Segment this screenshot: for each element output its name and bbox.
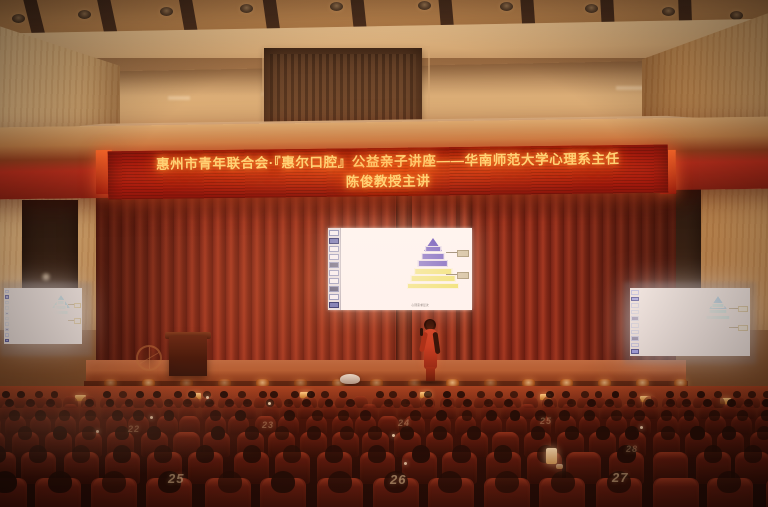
slide-thumbnail[interactable] xyxy=(329,278,339,284)
microphone-icon xyxy=(420,328,423,336)
audience-head xyxy=(210,410,221,420)
light-speck xyxy=(96,430,99,433)
pyramid-label-lower xyxy=(457,272,469,279)
seat-row-number: 27 xyxy=(612,470,628,485)
ceiling-downlight xyxy=(662,7,675,16)
audience-head xyxy=(133,410,144,420)
audience-head xyxy=(587,399,596,407)
audience-head xyxy=(5,399,14,407)
pyramid-tier xyxy=(55,305,67,310)
slide-canvas: 心理需求层次 xyxy=(328,228,472,310)
audience-head xyxy=(2,391,10,398)
audience-head xyxy=(243,445,261,463)
audience-head xyxy=(661,426,675,440)
wheel-prop xyxy=(136,345,162,371)
pyramid-label-upper xyxy=(738,306,748,312)
seat-highlight xyxy=(494,432,517,438)
presenter xyxy=(419,320,441,382)
audience-head xyxy=(433,426,447,440)
audience-head xyxy=(259,391,267,398)
slide-thumbnail[interactable] xyxy=(329,254,339,260)
audience-head xyxy=(526,391,534,398)
audience-head xyxy=(737,410,748,420)
pyramid-tier xyxy=(705,315,730,321)
audience-head xyxy=(46,399,55,407)
audience-head xyxy=(113,445,131,463)
audience-head xyxy=(9,410,20,420)
audience-head xyxy=(307,391,315,398)
audience-head xyxy=(494,445,512,463)
audience-head xyxy=(106,399,115,407)
audience-head xyxy=(85,399,94,407)
audience-head xyxy=(704,445,722,463)
slide-thumbnail-rail xyxy=(630,288,641,356)
audience-head xyxy=(565,426,579,440)
lectern xyxy=(169,336,207,376)
pyramid-tier xyxy=(47,325,75,330)
audience-head xyxy=(562,391,570,398)
phone-screen xyxy=(556,464,563,469)
audience-head xyxy=(164,410,175,420)
slide-thumbnail[interactable] xyxy=(5,290,9,293)
audience-head xyxy=(477,391,485,398)
audience-head xyxy=(645,399,654,407)
audience-head xyxy=(703,399,712,407)
audience-head xyxy=(321,391,329,398)
audience-head xyxy=(238,391,246,398)
slide-thumbnail[interactable] xyxy=(329,238,339,244)
audience-head xyxy=(153,391,161,398)
auditorium-photo: 惠州市青年联合会·『惠尔口腔』公益亲子讲座——华南师范大学心理系主任 陈俊教授主… xyxy=(0,0,768,507)
slide-thumbnail[interactable] xyxy=(329,302,339,308)
audience-head xyxy=(325,399,334,407)
audience-head xyxy=(443,391,451,398)
audience-head xyxy=(283,445,301,463)
audience-head xyxy=(438,471,462,493)
audience-head xyxy=(188,391,196,398)
audience-head xyxy=(17,391,25,398)
audience-head xyxy=(196,445,214,463)
slide-thumbnail[interactable] xyxy=(329,246,339,252)
audience-head xyxy=(245,426,259,440)
pyramid-label-upper xyxy=(74,303,81,309)
ceiling-downlight xyxy=(12,14,25,23)
slide-thumbnail[interactable] xyxy=(631,297,639,302)
audience-head xyxy=(584,410,595,420)
slide-thumbnail[interactable] xyxy=(5,312,9,315)
audience-head xyxy=(714,391,722,398)
audience-head xyxy=(727,399,736,407)
light-speck xyxy=(404,462,407,465)
slide-thumbnail[interactable] xyxy=(5,322,9,325)
left-led-display xyxy=(4,288,82,344)
pyramid-tier xyxy=(418,260,448,267)
presenter-legs xyxy=(426,367,435,381)
slide-thumbnail[interactable] xyxy=(5,306,9,309)
audience-head xyxy=(275,426,289,440)
audience-head xyxy=(102,471,126,493)
slide-thumbnail[interactable] xyxy=(631,323,639,328)
audience-head xyxy=(748,391,756,398)
slide-canvas xyxy=(4,288,82,344)
audience-head xyxy=(510,391,518,398)
audience-head xyxy=(486,410,497,420)
audience-head xyxy=(389,391,397,398)
audience-head xyxy=(436,410,447,420)
seat-row-number: 28 xyxy=(626,444,638,454)
audience-head xyxy=(709,410,720,420)
audience-head xyxy=(368,426,382,440)
ceiling-downlight xyxy=(240,4,253,13)
slide-thumbnail[interactable] xyxy=(329,286,339,292)
pyramid-tier xyxy=(57,300,66,305)
seat-row-number: 24 xyxy=(398,418,410,428)
audience-head xyxy=(145,399,154,407)
light-speck xyxy=(268,402,271,405)
wall-light-notch xyxy=(616,86,646,90)
audience-head xyxy=(154,445,172,463)
slide-thumbnail[interactable] xyxy=(5,333,9,336)
audience-head xyxy=(733,391,741,398)
audience-head xyxy=(164,399,173,407)
audience-head xyxy=(18,426,32,440)
audience-head xyxy=(307,426,321,440)
audience-head xyxy=(684,410,695,420)
banner-line-2: 陈俊教授主讲 xyxy=(346,171,431,192)
audience-head xyxy=(205,399,214,407)
main-projection-screen: 心理需求层次 xyxy=(328,228,472,310)
slide-thumbnail[interactable] xyxy=(631,290,639,295)
audience-head xyxy=(51,391,59,398)
audience-head xyxy=(235,410,246,420)
audience-head xyxy=(29,445,47,463)
light-speck xyxy=(392,434,395,437)
presenter-head xyxy=(426,320,434,329)
audience-head xyxy=(484,399,493,407)
pyramid-tier xyxy=(425,246,441,253)
audience-head xyxy=(680,391,688,398)
audience-head xyxy=(328,471,352,493)
seat-highlight xyxy=(521,404,534,407)
light-speck xyxy=(206,396,209,399)
slide-thumbnail-rail xyxy=(4,288,11,344)
audience-head xyxy=(136,391,144,398)
audience-head xyxy=(72,445,90,463)
audience-head xyxy=(291,391,299,398)
audience-head xyxy=(376,391,384,398)
pyramid-tier xyxy=(411,275,456,282)
audience-head xyxy=(271,471,295,493)
audience-head xyxy=(339,391,347,398)
seat-highlight xyxy=(65,396,76,399)
audience-head xyxy=(625,426,639,440)
audience-head xyxy=(504,399,513,407)
seat-highlight xyxy=(380,416,397,420)
seat-highlight xyxy=(64,404,77,407)
audience-head xyxy=(462,410,473,420)
slide-thumbnail[interactable] xyxy=(5,328,9,331)
slide-thumbnail[interactable] xyxy=(5,301,9,304)
audience-head xyxy=(661,410,672,420)
seat-highlight xyxy=(655,478,697,487)
audience-head xyxy=(340,426,354,440)
audience-head xyxy=(682,399,691,407)
audience-head xyxy=(147,426,161,440)
seat-highlight xyxy=(355,396,366,399)
audience-head xyxy=(174,391,182,398)
audience-head xyxy=(368,445,386,463)
ceiling-downlight xyxy=(330,2,343,11)
pyramid-diagram xyxy=(45,295,78,335)
audience-head xyxy=(103,391,111,398)
audience-head xyxy=(744,445,762,463)
audience-head xyxy=(666,399,675,407)
audience-head xyxy=(270,391,278,398)
seat-row-number: 25 xyxy=(540,416,552,426)
audience-head xyxy=(634,410,645,420)
audience-head xyxy=(82,426,96,440)
seat-row-number: 22 xyxy=(128,424,140,434)
audience-head xyxy=(581,391,589,398)
audience-head xyxy=(26,399,35,407)
audience-head xyxy=(53,426,67,440)
pyramid-label-lower xyxy=(74,318,81,324)
audience-head xyxy=(457,391,465,398)
audience-head xyxy=(409,391,417,398)
slide-thumbnail[interactable] xyxy=(5,295,9,298)
audience-head xyxy=(220,391,228,398)
audience-head xyxy=(225,399,234,407)
audience-head xyxy=(467,426,481,440)
audience-head xyxy=(424,391,432,398)
stage-floor-prop xyxy=(340,374,360,384)
wall-light-notch xyxy=(168,96,190,100)
alcove-reflection xyxy=(40,272,52,282)
phone-screen xyxy=(546,448,557,464)
audience-head xyxy=(183,399,192,407)
audience-head xyxy=(401,399,410,407)
audience-head xyxy=(761,410,768,420)
audience-head xyxy=(495,391,503,398)
audience-head xyxy=(627,399,636,407)
audience-head xyxy=(551,471,575,493)
audience-head xyxy=(384,399,393,407)
pyramid-tier xyxy=(711,303,724,309)
audience-head xyxy=(115,426,129,440)
audience-head xyxy=(763,391,768,398)
ceiling-downlight xyxy=(418,1,431,10)
seat-highlight xyxy=(655,452,686,459)
slide-thumbnail[interactable] xyxy=(329,294,339,300)
ceiling-downlight xyxy=(160,7,173,16)
right-led-display xyxy=(630,288,750,356)
audience-head xyxy=(559,410,570,420)
seat-highlight xyxy=(363,404,376,407)
audience-head xyxy=(463,399,472,407)
pyramid-label-upper xyxy=(457,250,469,257)
seat-highlight xyxy=(175,432,198,438)
audience-head xyxy=(717,471,741,493)
audience-head xyxy=(302,399,311,407)
audience-head xyxy=(762,399,768,407)
audience-head xyxy=(325,445,343,463)
audience-head xyxy=(544,399,553,407)
slide-thumbnail[interactable] xyxy=(631,310,639,315)
audience-head xyxy=(35,391,43,398)
audience-head xyxy=(243,399,252,407)
pyramid-tier xyxy=(49,320,73,325)
audience-head xyxy=(531,426,545,440)
audience-head xyxy=(346,399,355,407)
slide-thumbnail[interactable] xyxy=(329,270,339,276)
audience-head xyxy=(125,399,134,407)
audience-head xyxy=(48,471,72,493)
audience-head xyxy=(284,399,293,407)
pyramid-tier xyxy=(53,310,69,315)
light-speck xyxy=(640,426,643,429)
audience-head xyxy=(211,426,225,440)
audience-head xyxy=(697,391,705,398)
slide-caption: 心理需求层次 xyxy=(412,303,429,307)
pyramid-diagram xyxy=(403,238,463,297)
audience-head xyxy=(744,399,753,407)
slide-thumbnail[interactable] xyxy=(631,336,639,341)
slide-thumbnail-rail[interactable] xyxy=(328,228,341,310)
audience-head xyxy=(412,445,430,463)
audience-head xyxy=(443,399,452,407)
slide-thumbnail[interactable] xyxy=(329,262,339,268)
ceiling-downlight xyxy=(78,10,91,19)
pyramid-tier xyxy=(422,253,445,260)
audience-head xyxy=(595,391,603,398)
audience-head xyxy=(629,391,637,398)
pyramid-label-lower xyxy=(738,325,748,331)
seat-highlight xyxy=(181,416,198,420)
slide-canvas xyxy=(630,288,750,356)
led-banner: 惠州市青年联合会·『惠尔口腔』公益亲子讲座——华南师范大学心理系主任 陈俊教授主… xyxy=(108,145,669,200)
audience-head xyxy=(722,426,736,440)
audience-head xyxy=(59,410,70,420)
audience-head xyxy=(510,410,521,420)
audience-head xyxy=(495,471,519,493)
seat-row-number: 26 xyxy=(390,472,406,487)
audience-head xyxy=(546,391,554,398)
audience-head xyxy=(284,410,295,420)
slide-thumbnail[interactable] xyxy=(631,330,639,335)
seat-row-number: 25 xyxy=(168,471,184,486)
ceiling-downlight xyxy=(585,4,598,13)
audience-head xyxy=(35,410,46,420)
seat-highlight xyxy=(568,452,599,459)
seat-row-number: 23 xyxy=(262,420,274,430)
slide-thumbnail[interactable] xyxy=(329,230,339,236)
pyramid-tier xyxy=(696,333,739,339)
audience-head xyxy=(452,445,470,463)
slide-thumbnail[interactable] xyxy=(631,343,639,348)
audience-head xyxy=(338,410,349,420)
slide-thumbnail[interactable] xyxy=(5,317,9,320)
slide-thumbnail[interactable] xyxy=(631,303,639,308)
audience-head xyxy=(218,471,242,493)
light-speck xyxy=(150,416,153,419)
audience-head xyxy=(612,391,620,398)
audience-head xyxy=(425,399,434,407)
audience-head xyxy=(119,391,127,398)
audience-head xyxy=(611,410,622,420)
pyramid-tier xyxy=(708,309,727,315)
audience-head xyxy=(400,426,414,440)
audience-head xyxy=(312,410,323,420)
audience-head xyxy=(666,391,674,398)
slide-thumbnail[interactable] xyxy=(631,316,639,321)
audience-head xyxy=(690,426,704,440)
slide-thumbnail[interactable] xyxy=(631,349,639,354)
audience-head xyxy=(605,399,614,407)
audience-head xyxy=(85,410,96,420)
slide-thumbnail[interactable] xyxy=(5,339,9,342)
audience-head xyxy=(567,399,576,407)
pyramid-tier xyxy=(407,283,459,290)
ceiling-downlight xyxy=(500,2,513,11)
audience-head xyxy=(596,426,610,440)
audience-head xyxy=(410,410,421,420)
pyramid-diagram xyxy=(692,296,742,345)
pyramid-tier xyxy=(699,327,736,333)
audience-head xyxy=(360,410,371,420)
audience-head xyxy=(112,410,123,420)
audience-area: 2526272223242528 xyxy=(0,386,768,507)
audience-head xyxy=(757,426,768,440)
